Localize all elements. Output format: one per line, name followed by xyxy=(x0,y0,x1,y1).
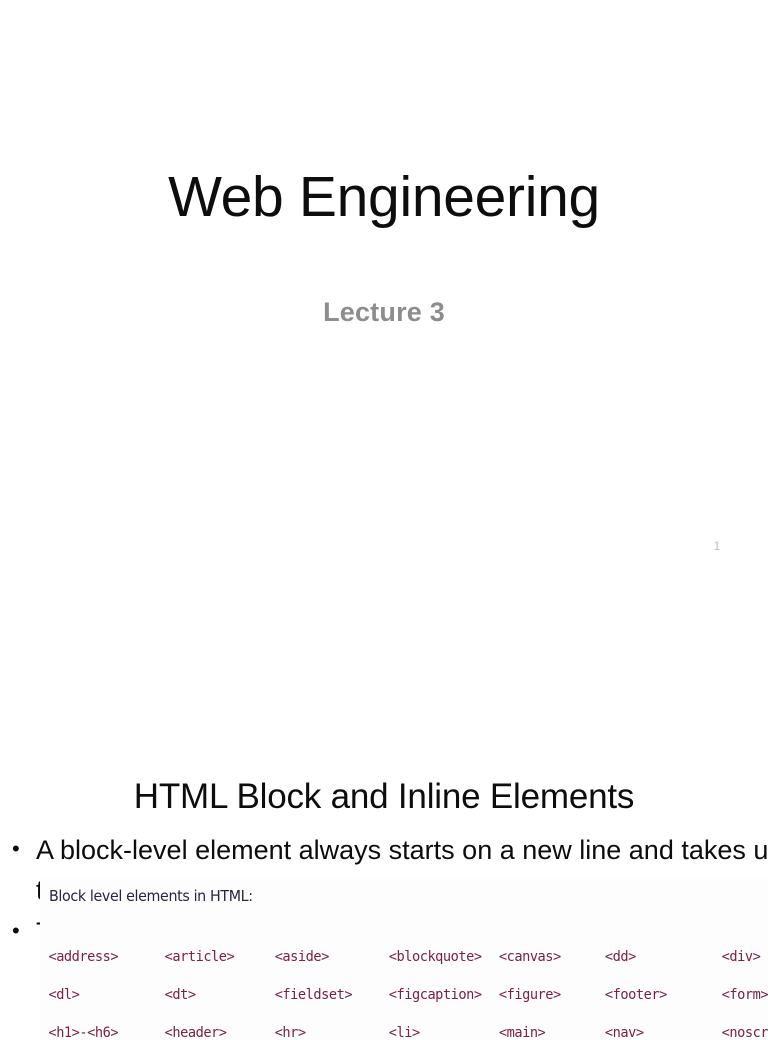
tag-cell: <noscript> xyxy=(701,1025,768,1040)
tag-cell: <form> xyxy=(701,987,768,1003)
tag-cell: <article> xyxy=(159,949,263,965)
tag-cell: <footer> xyxy=(588,987,694,1003)
tag-cell: <dl> xyxy=(40,987,152,1003)
tag-cell: <li> xyxy=(385,1025,490,1040)
bullet-marker-icon: • xyxy=(12,913,20,949)
slide-title: Web Engineering Lecture 3 1 xyxy=(0,0,768,576)
tag-cell: <h1>-<h6> xyxy=(40,1025,152,1040)
tag-cell: <hr> xyxy=(270,1025,378,1040)
page-title: Web Engineering xyxy=(0,168,768,228)
tag-cell: <nav> xyxy=(588,1025,694,1040)
bullet-marker-icon: • xyxy=(12,831,20,867)
tag-cell: <blockquote> xyxy=(385,949,490,965)
tag-cell: <main> xyxy=(497,1025,583,1040)
tag-cell: <header> xyxy=(159,1025,263,1040)
tag-cell: <dt> xyxy=(159,987,263,1003)
tag-cell: <aside> xyxy=(270,949,378,965)
slide-number: 1 xyxy=(700,539,734,553)
tag-cell: <canvas> xyxy=(497,949,583,965)
block-elements-tag-grid: <address> <article> <aside> <blockquote>… xyxy=(40,938,768,1040)
tag-cell: <fieldset> xyxy=(270,987,378,1003)
tag-cell: <figure> xyxy=(497,987,583,1003)
tag-cell: <address> xyxy=(40,949,152,965)
tag-cell: <div> xyxy=(701,949,768,965)
section-heading: HTML Block and Inline Elements xyxy=(0,777,768,817)
figure-caption: Block level elements in HTML: xyxy=(49,887,253,905)
block-elements-figure: Block level elements in HTML: <address> … xyxy=(40,878,768,1040)
tag-cell: <figcaption> xyxy=(385,987,490,1003)
tag-cell: <dd> xyxy=(588,949,694,965)
lecture-subtitle: Lecture 3 xyxy=(0,297,768,328)
